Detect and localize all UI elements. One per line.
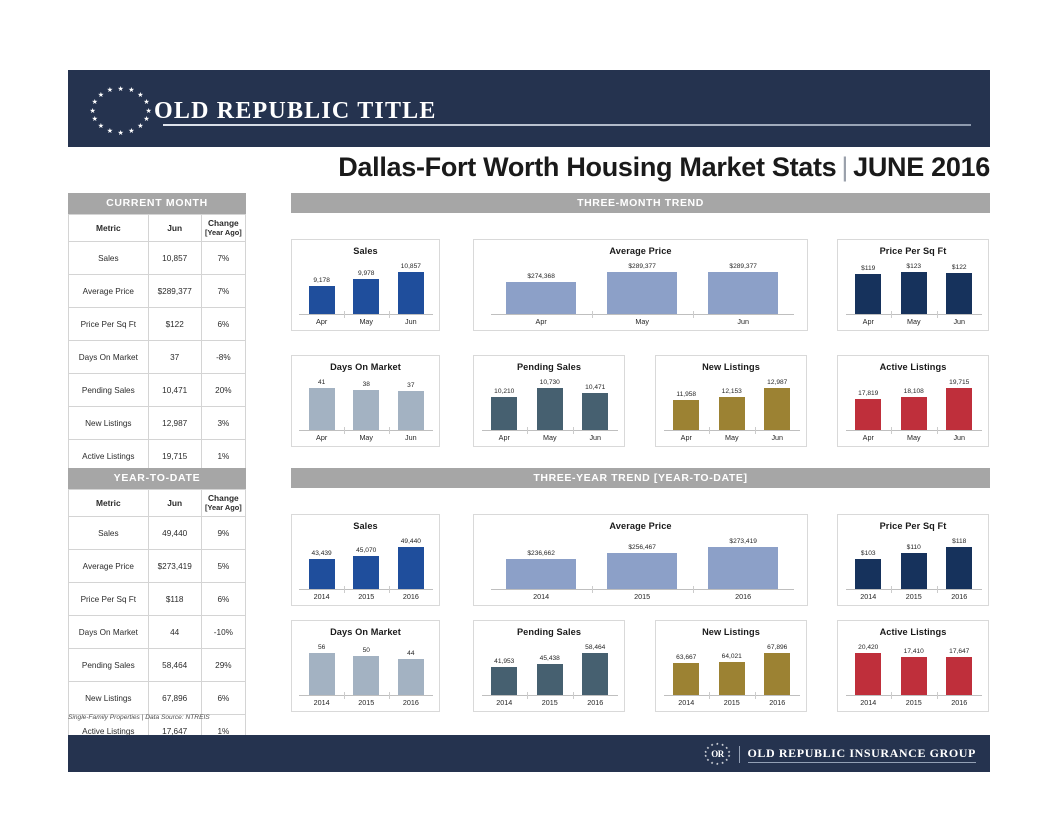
footnote: Single-Family Properties | Data Source: … — [68, 714, 210, 721]
x-axis-line — [664, 695, 801, 696]
bar-value-label: 44 — [407, 650, 414, 657]
bar-value-label: 50 — [363, 647, 370, 654]
table-row: New Listings12,9873% — [69, 407, 246, 440]
metric-cell: Days On Market — [69, 341, 149, 374]
plot-area: 11,95812,15312,987AprMayJun — [656, 372, 806, 444]
table-row: Pending Sales58,46429% — [69, 649, 246, 682]
bar — [491, 667, 517, 695]
axis-tick-mark — [389, 311, 390, 318]
change-cell: 6% — [201, 682, 245, 715]
axis-tick-mark — [344, 427, 345, 434]
bar — [946, 273, 972, 315]
page-title-main: Dallas-Fort Worth Housing Market Stats — [338, 152, 836, 182]
chart-title: Days On Market — [292, 362, 439, 372]
page-title-period: JUNE 2016 — [853, 152, 990, 182]
bar-value-label: 49,440 — [401, 538, 421, 545]
bar — [855, 559, 881, 589]
value-cell: $273,419 — [148, 550, 201, 583]
bar-value-label: 41,953 — [494, 658, 514, 665]
bar-group: 49,440 — [398, 531, 424, 589]
bar — [855, 399, 881, 430]
bar — [673, 663, 699, 695]
x-tick-label: May — [353, 433, 379, 442]
star-circle-emblem-icon: OR ★★★★★★★★★★★★★★ — [705, 743, 731, 765]
bar — [353, 390, 379, 430]
star-circle-icon: ★★★★★★★★★★★★★★★★ — [90, 87, 152, 135]
table-row: Pending Sales10,47120% — [69, 374, 246, 407]
plot-area: 10,21010,73010,471AprMayJun — [474, 372, 624, 444]
footer-brand-name: OLD REPUBLIC INSURANCE GROUP — [748, 746, 977, 763]
x-tick-label: 2014 — [309, 592, 335, 601]
bar-group: 63,667 — [673, 637, 699, 695]
bar-group: 9,978 — [353, 256, 379, 314]
bar-value-label: 9,978 — [358, 270, 375, 277]
value-cell: 10,857 — [148, 242, 201, 275]
metric-cell: Days On Market — [69, 616, 149, 649]
x-axis-line — [299, 314, 433, 315]
chart-panel-three-month-new-listings: New Listings11,95812,15312,987AprMayJun — [655, 355, 807, 447]
value-cell: 12,987 — [148, 407, 201, 440]
bar-value-label: $273,419 — [729, 538, 757, 545]
bar — [855, 274, 881, 314]
x-axis-tick-labels: 201420152016 — [491, 592, 794, 601]
bar-group: 41 — [309, 372, 335, 430]
plot-area: $119$123$122AprMayJun — [838, 256, 988, 328]
chart-panel-three-year-pending-sales: Pending Sales41,95345,43858,464201420152… — [473, 620, 625, 712]
x-tick-label: May — [901, 433, 927, 442]
x-tick-label: 2016 — [708, 592, 778, 601]
x-tick-label: 2016 — [398, 698, 424, 707]
x-tick-label: 2014 — [673, 698, 699, 707]
bar-group: $118 — [946, 531, 972, 589]
axis-tick-mark — [389, 427, 390, 434]
bar-value-label: 10,210 — [494, 388, 514, 395]
chart-panel-three-month-active-listings: Active Listings17,81918,10819,715AprMayJ… — [837, 355, 989, 447]
bars-container: 63,66764,02167,896 — [664, 637, 801, 695]
column-header-value: Jun — [148, 490, 201, 517]
metric-cell: Price Per Sq Ft — [69, 583, 149, 616]
x-tick-label: 2016 — [398, 592, 424, 601]
bar — [309, 388, 335, 430]
x-tick-label: Apr — [855, 433, 881, 442]
bar-group: 10,471 — [582, 372, 608, 430]
bar — [537, 664, 563, 695]
bar-value-label: 11,958 — [676, 391, 696, 398]
metric-cell: Price Per Sq Ft — [69, 308, 149, 341]
bar — [353, 279, 379, 314]
plot-area: 9,1789,97810,857AprMayJun — [292, 256, 439, 328]
bar-value-label: 43,439 — [312, 550, 332, 557]
bar-value-label: 17,819 — [858, 390, 878, 397]
chart-panel-three-year-active-listings: Active Listings20,42017,41017,6472014201… — [837, 620, 989, 712]
column-header-change: Change [Year Ago] — [201, 215, 245, 242]
axis-tick-mark — [389, 586, 390, 593]
bar-group: 38 — [353, 372, 379, 430]
x-tick-label: Jun — [398, 433, 424, 442]
chart-panel-three-year-days-on-market: Days On Market565044201420152016 — [291, 620, 440, 712]
x-axis-line — [846, 430, 983, 431]
bar — [537, 388, 563, 430]
bar-value-label: 17,647 — [949, 648, 969, 655]
x-tick-label: 2016 — [946, 592, 972, 601]
value-cell: $122 — [148, 308, 201, 341]
bars-container: 565044 — [299, 637, 433, 695]
x-tick-label: May — [353, 317, 379, 326]
brand-name: OLD REPUBLIC TITLE — [154, 98, 437, 125]
chart-panel-three-year-sales: Sales43,43945,07049,440201420152016 — [291, 514, 440, 606]
chart-panel-three-month-days-on-market: Days On Market413837AprMayJun — [291, 355, 440, 447]
column-header-value: Jun — [148, 215, 201, 242]
bar — [353, 556, 379, 589]
bar-group: 12,153 — [719, 372, 745, 430]
bar-group: 11,958 — [673, 372, 699, 430]
bar-group: 17,647 — [946, 637, 972, 695]
bars-container: 9,1789,97810,857 — [299, 256, 433, 314]
axis-tick-mark — [891, 427, 892, 434]
plot-area: 565044201420152016 — [292, 637, 439, 709]
plot-area: 413837AprMayJun — [292, 372, 439, 444]
bar-value-label: 38 — [363, 381, 370, 388]
chart-panel-three-month-average-price: Average Price$274,368$289,377$289,377Apr… — [473, 239, 808, 331]
bar — [901, 657, 927, 695]
x-axis-tick-labels: AprMayJun — [664, 433, 801, 442]
section-band-three-year: THREE-YEAR TREND [YEAR-TO-DATE] — [291, 468, 990, 488]
bar-group: 17,410 — [901, 637, 927, 695]
x-tick-label: 2014 — [855, 592, 881, 601]
chart-panel-three-month-sales: Sales9,1789,97810,857AprMayJun — [291, 239, 440, 331]
x-axis-tick-labels: 201420152016 — [846, 698, 983, 707]
x-tick-label: 2015 — [719, 698, 745, 707]
x-tick-label: 2014 — [309, 698, 335, 707]
change-sublabel: [Year Ago] — [202, 228, 245, 238]
bar — [764, 653, 790, 695]
bar-group: $289,377 — [607, 256, 677, 314]
bar-group: 44 — [398, 637, 424, 695]
metric-cell: New Listings — [69, 407, 149, 440]
chart-title: Price Per Sq Ft — [838, 246, 988, 256]
change-label: Change — [208, 493, 239, 503]
brand-lockup: ★★★★★★★★★★★★★★★★ OLD REPUBLIC TITLE — [90, 87, 437, 135]
x-axis-tick-labels: AprMayJun — [299, 433, 433, 442]
bar-group: 37 — [398, 372, 424, 430]
x-tick-label: Jun — [764, 433, 790, 442]
bar-value-label: 37 — [407, 382, 414, 389]
chart-title: Average Price — [474, 246, 807, 256]
bar-group: 12,987 — [764, 372, 790, 430]
chart-title: Active Listings — [838, 627, 988, 637]
x-tick-label: 2016 — [582, 698, 608, 707]
table-row: Price Per Sq Ft$1186% — [69, 583, 246, 616]
x-tick-label: Apr — [309, 317, 335, 326]
bar — [353, 656, 379, 695]
axis-tick-mark — [937, 586, 938, 593]
metric-cell: Sales — [69, 242, 149, 275]
bar — [309, 559, 335, 589]
table-row: Average Price$289,3777% — [69, 275, 246, 308]
table-row: Sales49,4409% — [69, 517, 246, 550]
x-tick-label: May — [719, 433, 745, 442]
value-cell: 44 — [148, 616, 201, 649]
axis-tick-mark — [891, 692, 892, 699]
axis-tick-mark — [709, 427, 710, 434]
x-tick-label: Jun — [946, 317, 972, 326]
page-title: Dallas-Fort Worth Housing Market Stats|J… — [338, 152, 990, 183]
axis-tick-mark — [709, 692, 710, 699]
chart-panel-three-month-pending-sales: Pending Sales10,21010,73010,471AprMayJun — [473, 355, 625, 447]
chart-title: Pending Sales — [474, 362, 624, 372]
bars-container: 11,95812,15312,987 — [664, 372, 801, 430]
x-axis-line — [299, 430, 433, 431]
chart-panel-three-year-price-per-sqft: Price Per Sq Ft$103$110$118201420152016 — [837, 514, 989, 606]
chart-panel-three-year-new-listings: New Listings63,66764,02167,8962014201520… — [655, 620, 807, 712]
table-header-row: Metric Jun Change [Year Ago] — [69, 490, 246, 517]
bar-group: $122 — [946, 256, 972, 314]
bar-group: 64,021 — [719, 637, 745, 695]
bar-value-label: 12,153 — [722, 388, 742, 395]
x-axis-line — [846, 589, 983, 590]
plot-area: $103$110$118201420152016 — [838, 531, 988, 603]
bar-group: $236,662 — [506, 531, 576, 589]
bars-container: 43,43945,07049,440 — [299, 531, 433, 589]
plot-area: $274,368$289,377$289,377AprMayJun — [474, 256, 807, 328]
bar — [719, 397, 745, 430]
ytd-table: Metric Jun Change [Year Ago] Sales49,440… — [68, 489, 246, 748]
value-cell: 37 — [148, 341, 201, 374]
metric-cell: Sales — [69, 517, 149, 550]
bar-group: 58,464 — [582, 637, 608, 695]
metric-cell: New Listings — [69, 682, 149, 715]
value-cell: 10,471 — [148, 374, 201, 407]
bar — [946, 547, 972, 589]
bar — [607, 553, 677, 589]
metric-cell: Average Price — [69, 550, 149, 583]
bar-value-label: 9,178 — [313, 277, 330, 284]
bars-container: $236,662$256,467$273,419 — [491, 531, 794, 589]
x-tick-label: 2015 — [537, 698, 563, 707]
bars-container: 413837 — [299, 372, 433, 430]
chart-title: Pending Sales — [474, 627, 624, 637]
bars-container: $274,368$289,377$289,377 — [491, 256, 794, 314]
bar-value-label: $119 — [861, 265, 875, 272]
change-cell: 9% — [201, 517, 245, 550]
axis-tick-mark — [891, 311, 892, 318]
plot-area: 43,43945,07049,440201420152016 — [292, 531, 439, 603]
x-axis-tick-labels: AprMayJun — [846, 317, 983, 326]
axis-tick-mark — [592, 586, 593, 593]
value-cell: $118 — [148, 583, 201, 616]
bar-value-label: 10,857 — [401, 263, 421, 270]
plot-area: 20,42017,41017,647201420152016 — [838, 637, 988, 709]
table-row: Price Per Sq Ft$1226% — [69, 308, 246, 341]
bar-group: 10,857 — [398, 256, 424, 314]
bar — [398, 391, 424, 430]
x-axis-line — [664, 430, 801, 431]
x-axis-line — [299, 589, 433, 590]
column-header-metric: Metric — [69, 490, 149, 517]
x-axis-tick-labels: AprMayJun — [482, 433, 619, 442]
x-tick-label: Apr — [506, 317, 576, 326]
chart-title: Active Listings — [838, 362, 988, 372]
change-cell: 29% — [201, 649, 245, 682]
value-cell: $289,377 — [148, 275, 201, 308]
change-cell: 6% — [201, 583, 245, 616]
bar — [582, 393, 608, 430]
x-axis-line — [299, 695, 433, 696]
x-tick-label: Apr — [855, 317, 881, 326]
bar-group: 41,953 — [491, 637, 517, 695]
axis-tick-mark — [573, 692, 574, 699]
metric-cell: Average Price — [69, 275, 149, 308]
bar-value-label: $123 — [906, 263, 921, 270]
bar-group: $274,368 — [506, 256, 576, 314]
x-tick-label: Jun — [398, 317, 424, 326]
x-tick-label: May — [607, 317, 677, 326]
plot-area: $236,662$256,467$273,419201420152016 — [474, 531, 807, 603]
bar-group: 50 — [353, 637, 379, 695]
current-month-caption: CURRENT MONTH — [68, 193, 246, 214]
footer-divider — [739, 746, 740, 763]
axis-tick-mark — [344, 692, 345, 699]
x-tick-label: Apr — [673, 433, 699, 442]
plot-area: 63,66764,02167,896201420152016 — [656, 637, 806, 709]
ytd-table-block: YEAR-TO-DATE Metric Jun Change [Year Ago… — [68, 468, 246, 748]
bar — [946, 388, 972, 430]
bar-value-label: 63,667 — [676, 654, 696, 661]
footer-band: OR ★★★★★★★★★★★★★★ OLD REPUBLIC INSURANCE… — [68, 735, 990, 772]
bars-container: 17,81918,10819,715 — [846, 372, 983, 430]
plot-area: 17,81918,10819,715AprMayJun — [838, 372, 988, 444]
bar-group: 17,819 — [855, 372, 881, 430]
axis-tick-mark — [592, 311, 593, 318]
bar-value-label: 45,070 — [356, 547, 376, 554]
bar-group: $256,467 — [607, 531, 677, 589]
axis-tick-mark — [937, 311, 938, 318]
axis-tick-mark — [389, 692, 390, 699]
axis-tick-mark — [755, 692, 756, 699]
change-cell: -8% — [201, 341, 245, 374]
bar-group: $110 — [901, 531, 927, 589]
value-cell: 58,464 — [148, 649, 201, 682]
section-band-three-month: THREE-MONTH TREND — [291, 193, 990, 213]
change-cell: 6% — [201, 308, 245, 341]
chart-panel-three-month-price-per-sqft: Price Per Sq Ft$119$123$122AprMayJun — [837, 239, 989, 331]
bar-group: $123 — [901, 256, 927, 314]
column-header-change: Change [Year Ago] — [201, 490, 245, 517]
bar-group: 56 — [309, 637, 335, 695]
x-tick-label: 2016 — [946, 698, 972, 707]
chart-panel-three-year-average-price: Average Price$236,662$256,467$273,419201… — [473, 514, 808, 606]
plot-area: 41,95345,43858,464201420152016 — [474, 637, 624, 709]
bar-value-label: 10,730 — [540, 379, 560, 386]
bar — [946, 657, 972, 695]
change-cell: 20% — [201, 374, 245, 407]
axis-tick-mark — [891, 586, 892, 593]
x-tick-label: May — [537, 433, 563, 442]
chart-title: Days On Market — [292, 627, 439, 637]
x-axis-tick-labels: AprMayJun — [491, 317, 794, 326]
x-axis-tick-labels: 201420152016 — [299, 592, 433, 601]
bar-value-label: $103 — [861, 550, 876, 557]
bar-group: $119 — [855, 256, 881, 314]
brand-underline-rule — [163, 124, 971, 126]
table-row: Days On Market37-8% — [69, 341, 246, 374]
bars-container: 41,95345,43858,464 — [482, 637, 619, 695]
bar-group: 10,210 — [491, 372, 517, 430]
bar-value-label: $274,368 — [527, 273, 555, 280]
axis-tick-mark — [755, 427, 756, 434]
change-cell: 3% — [201, 407, 245, 440]
bar-value-label: 10,471 — [585, 384, 605, 391]
bar-value-label: $110 — [907, 544, 921, 551]
change-label: Change — [208, 218, 239, 228]
bar-group: 9,178 — [309, 256, 335, 314]
change-cell: 7% — [201, 242, 245, 275]
x-axis-tick-labels: AprMayJun — [846, 433, 983, 442]
x-tick-label: Jun — [582, 433, 608, 442]
bar — [506, 559, 576, 589]
bar — [582, 653, 608, 695]
x-tick-label: 2014 — [506, 592, 576, 601]
bar — [309, 286, 335, 314]
bar-value-label: 56 — [318, 644, 325, 651]
bar-value-label: 58,464 — [585, 644, 605, 651]
bar-value-label: 18,108 — [904, 388, 924, 395]
axis-tick-mark — [527, 692, 528, 699]
x-tick-label: Apr — [491, 433, 517, 442]
bar-group: $273,419 — [708, 531, 778, 589]
bar-value-label: $236,662 — [527, 550, 555, 557]
bar-value-label: $289,377 — [729, 263, 757, 270]
bar — [607, 272, 677, 314]
axis-tick-mark — [693, 311, 694, 318]
x-axis-line — [491, 589, 794, 590]
chart-title: Average Price — [474, 521, 807, 531]
bar — [309, 653, 335, 695]
bar-value-label: 20,420 — [858, 644, 878, 651]
bar-value-label: $122 — [952, 264, 967, 271]
axis-tick-mark — [527, 427, 528, 434]
chart-title: New Listings — [656, 362, 806, 372]
x-axis-tick-labels: 201420152016 — [846, 592, 983, 601]
x-tick-label: 2014 — [855, 698, 881, 707]
bar-group: 43,439 — [309, 531, 335, 589]
bar — [398, 272, 424, 314]
bar-value-label: 41 — [318, 379, 325, 386]
ytd-table-body: Sales49,4409%Average Price$273,4195%Pric… — [69, 517, 246, 748]
axis-tick-mark — [937, 427, 938, 434]
change-cell: -10% — [201, 616, 245, 649]
table-row: Sales10,8577% — [69, 242, 246, 275]
chart-title: New Listings — [656, 627, 806, 637]
x-tick-label: 2015 — [607, 592, 677, 601]
header-band: ★★★★★★★★★★★★★★★★ OLD REPUBLIC TITLE — [68, 70, 990, 147]
x-tick-label: Jun — [946, 433, 972, 442]
chart-title: Price Per Sq Ft — [838, 521, 988, 531]
chart-title: Sales — [292, 246, 439, 256]
x-tick-label: May — [901, 317, 927, 326]
x-axis-line — [491, 314, 794, 315]
bar-group: $289,377 — [708, 256, 778, 314]
bar-value-label: 19,715 — [949, 379, 969, 386]
bar — [855, 653, 881, 695]
bar — [901, 272, 927, 314]
bar-value-label: 45,438 — [540, 655, 560, 662]
bar-group: 20,420 — [855, 637, 881, 695]
bar-value-label: 67,896 — [767, 644, 787, 651]
column-header-metric: Metric — [69, 215, 149, 242]
bar-group: 18,108 — [901, 372, 927, 430]
bars-container: $103$110$118 — [846, 531, 983, 589]
